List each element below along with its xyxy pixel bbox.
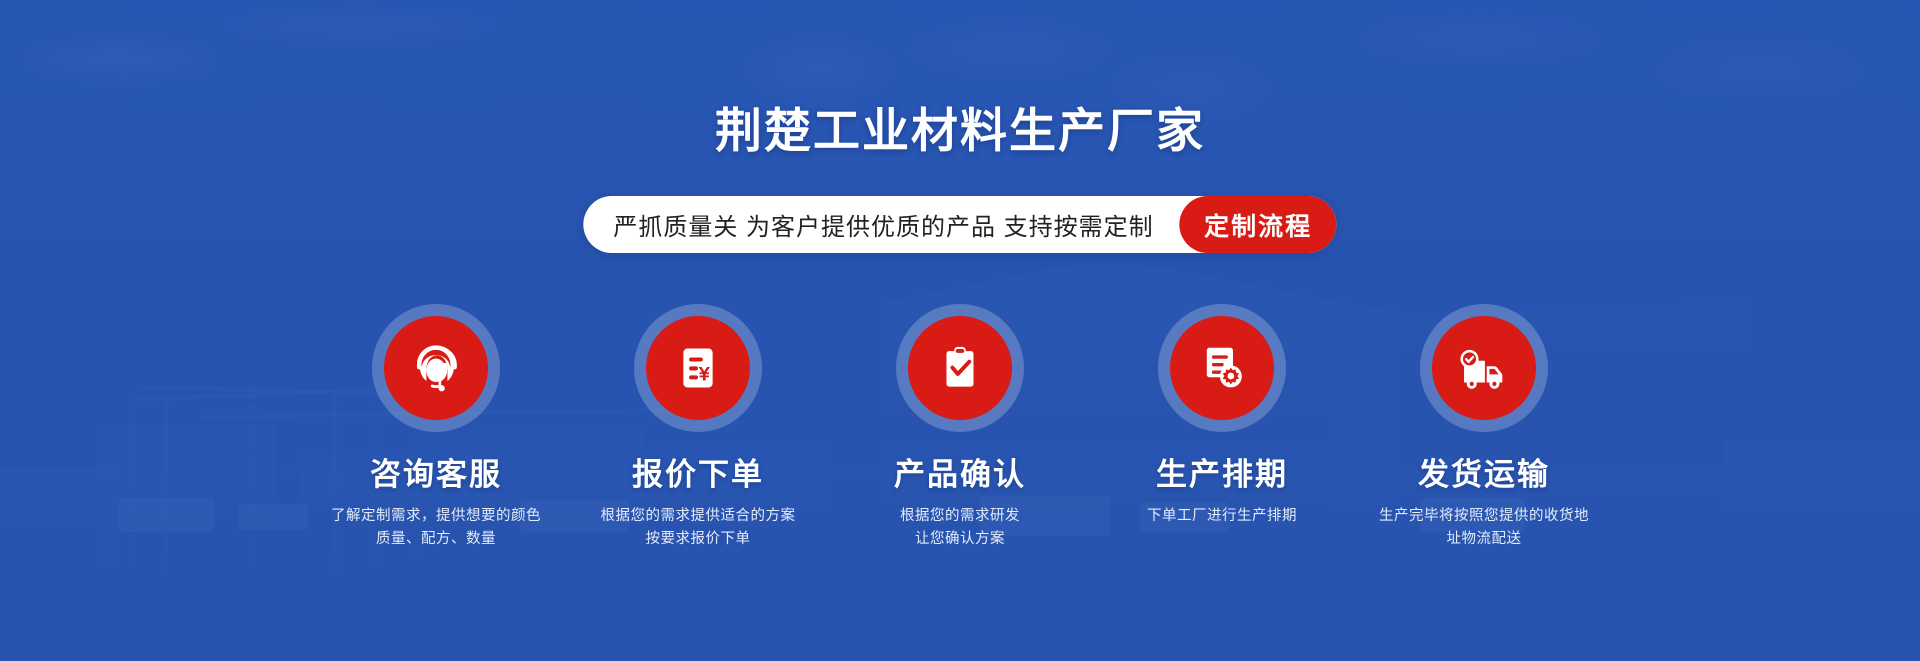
step-description-line1: 下单工厂进行生产排期 <box>1147 505 1297 527</box>
headset-support-icon <box>407 339 465 397</box>
step-description: 下单工厂进行生产排期 <box>1147 505 1297 527</box>
promo-banner: 荆楚工业材料生产厂家 严抓质量关 为客户提供优质的产品 支持按需定制 定制流程 <box>0 0 1920 661</box>
step-title: 产品确认 <box>894 458 1026 492</box>
process-step-schedule[interactable]: 生产排期 下单工厂进行生产排期 <box>1091 304 1353 528</box>
step-circle-ring <box>1420 304 1548 432</box>
step-circle <box>646 316 750 420</box>
banner-content: 荆楚工业材料生产厂家 严抓质量关 为客户提供优质的产品 支持按需定制 定制流程 <box>0 0 1920 661</box>
invoice-yuan-icon <box>672 342 724 394</box>
step-title: 报价下单 <box>632 458 764 492</box>
step-description-line2: 质量、配方、数量 <box>331 528 541 550</box>
step-title: 发货运输 <box>1418 458 1550 492</box>
step-description-line1: 根据您的需求研发 <box>900 505 1020 527</box>
step-circle-ring <box>372 304 500 432</box>
step-title: 生产排期 <box>1156 458 1288 492</box>
process-step-consult[interactable]: 咨询客服 了解定制需求，提供想要的颜色 质量、配方、数量 <box>305 304 567 550</box>
step-circle-ring <box>634 304 762 432</box>
clipboard-check-icon <box>933 341 987 395</box>
step-description-line1: 生产完毕将按照您提供的收货地 <box>1379 505 1589 527</box>
process-step-quote[interactable]: 报价下单 根据您的需求提供适合的方案 按要求报价下单 <box>567 304 829 550</box>
process-steps: 咨询客服 了解定制需求，提供想要的颜色 质量、配方、数量 <box>0 304 1920 550</box>
step-circle-ring <box>1158 304 1286 432</box>
step-description: 生产完毕将按照您提供的收货地 址物流配送 <box>1379 505 1589 550</box>
step-description: 根据您的需求提供适合的方案 按要求报价下单 <box>601 505 796 550</box>
document-gear-icon <box>1195 341 1249 395</box>
step-circle <box>1432 316 1536 420</box>
step-description: 根据您的需求研发 让您确认方案 <box>900 505 1020 550</box>
step-circle <box>384 316 488 420</box>
step-description-line1: 了解定制需求，提供想要的颜色 <box>331 505 541 527</box>
step-circle <box>1170 316 1274 420</box>
step-title: 咨询客服 <box>370 458 502 492</box>
step-description-line2: 按要求报价下单 <box>601 528 796 550</box>
page-title: 荆楚工业材料生产厂家 <box>0 107 1920 154</box>
process-step-confirm[interactable]: 产品确认 根据您的需求研发 让您确认方案 <box>829 304 1091 550</box>
process-step-delivery[interactable]: 发货运输 生产完毕将按照您提供的收货地 址物流配送 <box>1353 304 1615 550</box>
tagline-text: 严抓质量关 为客户提供优质的产品 支持按需定制 <box>613 207 1179 242</box>
step-description-line2: 让您确认方案 <box>900 528 1020 550</box>
step-circle-ring <box>896 304 1024 432</box>
step-circle <box>908 316 1012 420</box>
custom-process-button[interactable]: 定制流程 <box>1180 196 1337 253</box>
step-description-line1: 根据您的需求提供适合的方案 <box>601 505 796 527</box>
delivery-truck-check-icon <box>1455 339 1513 397</box>
step-description: 了解定制需求，提供想要的颜色 质量、配方、数量 <box>331 505 541 550</box>
step-description-line2: 址物流配送 <box>1379 528 1589 550</box>
tagline-bar: 严抓质量关 为客户提供优质的产品 支持按需定制 定制流程 <box>583 196 1336 253</box>
